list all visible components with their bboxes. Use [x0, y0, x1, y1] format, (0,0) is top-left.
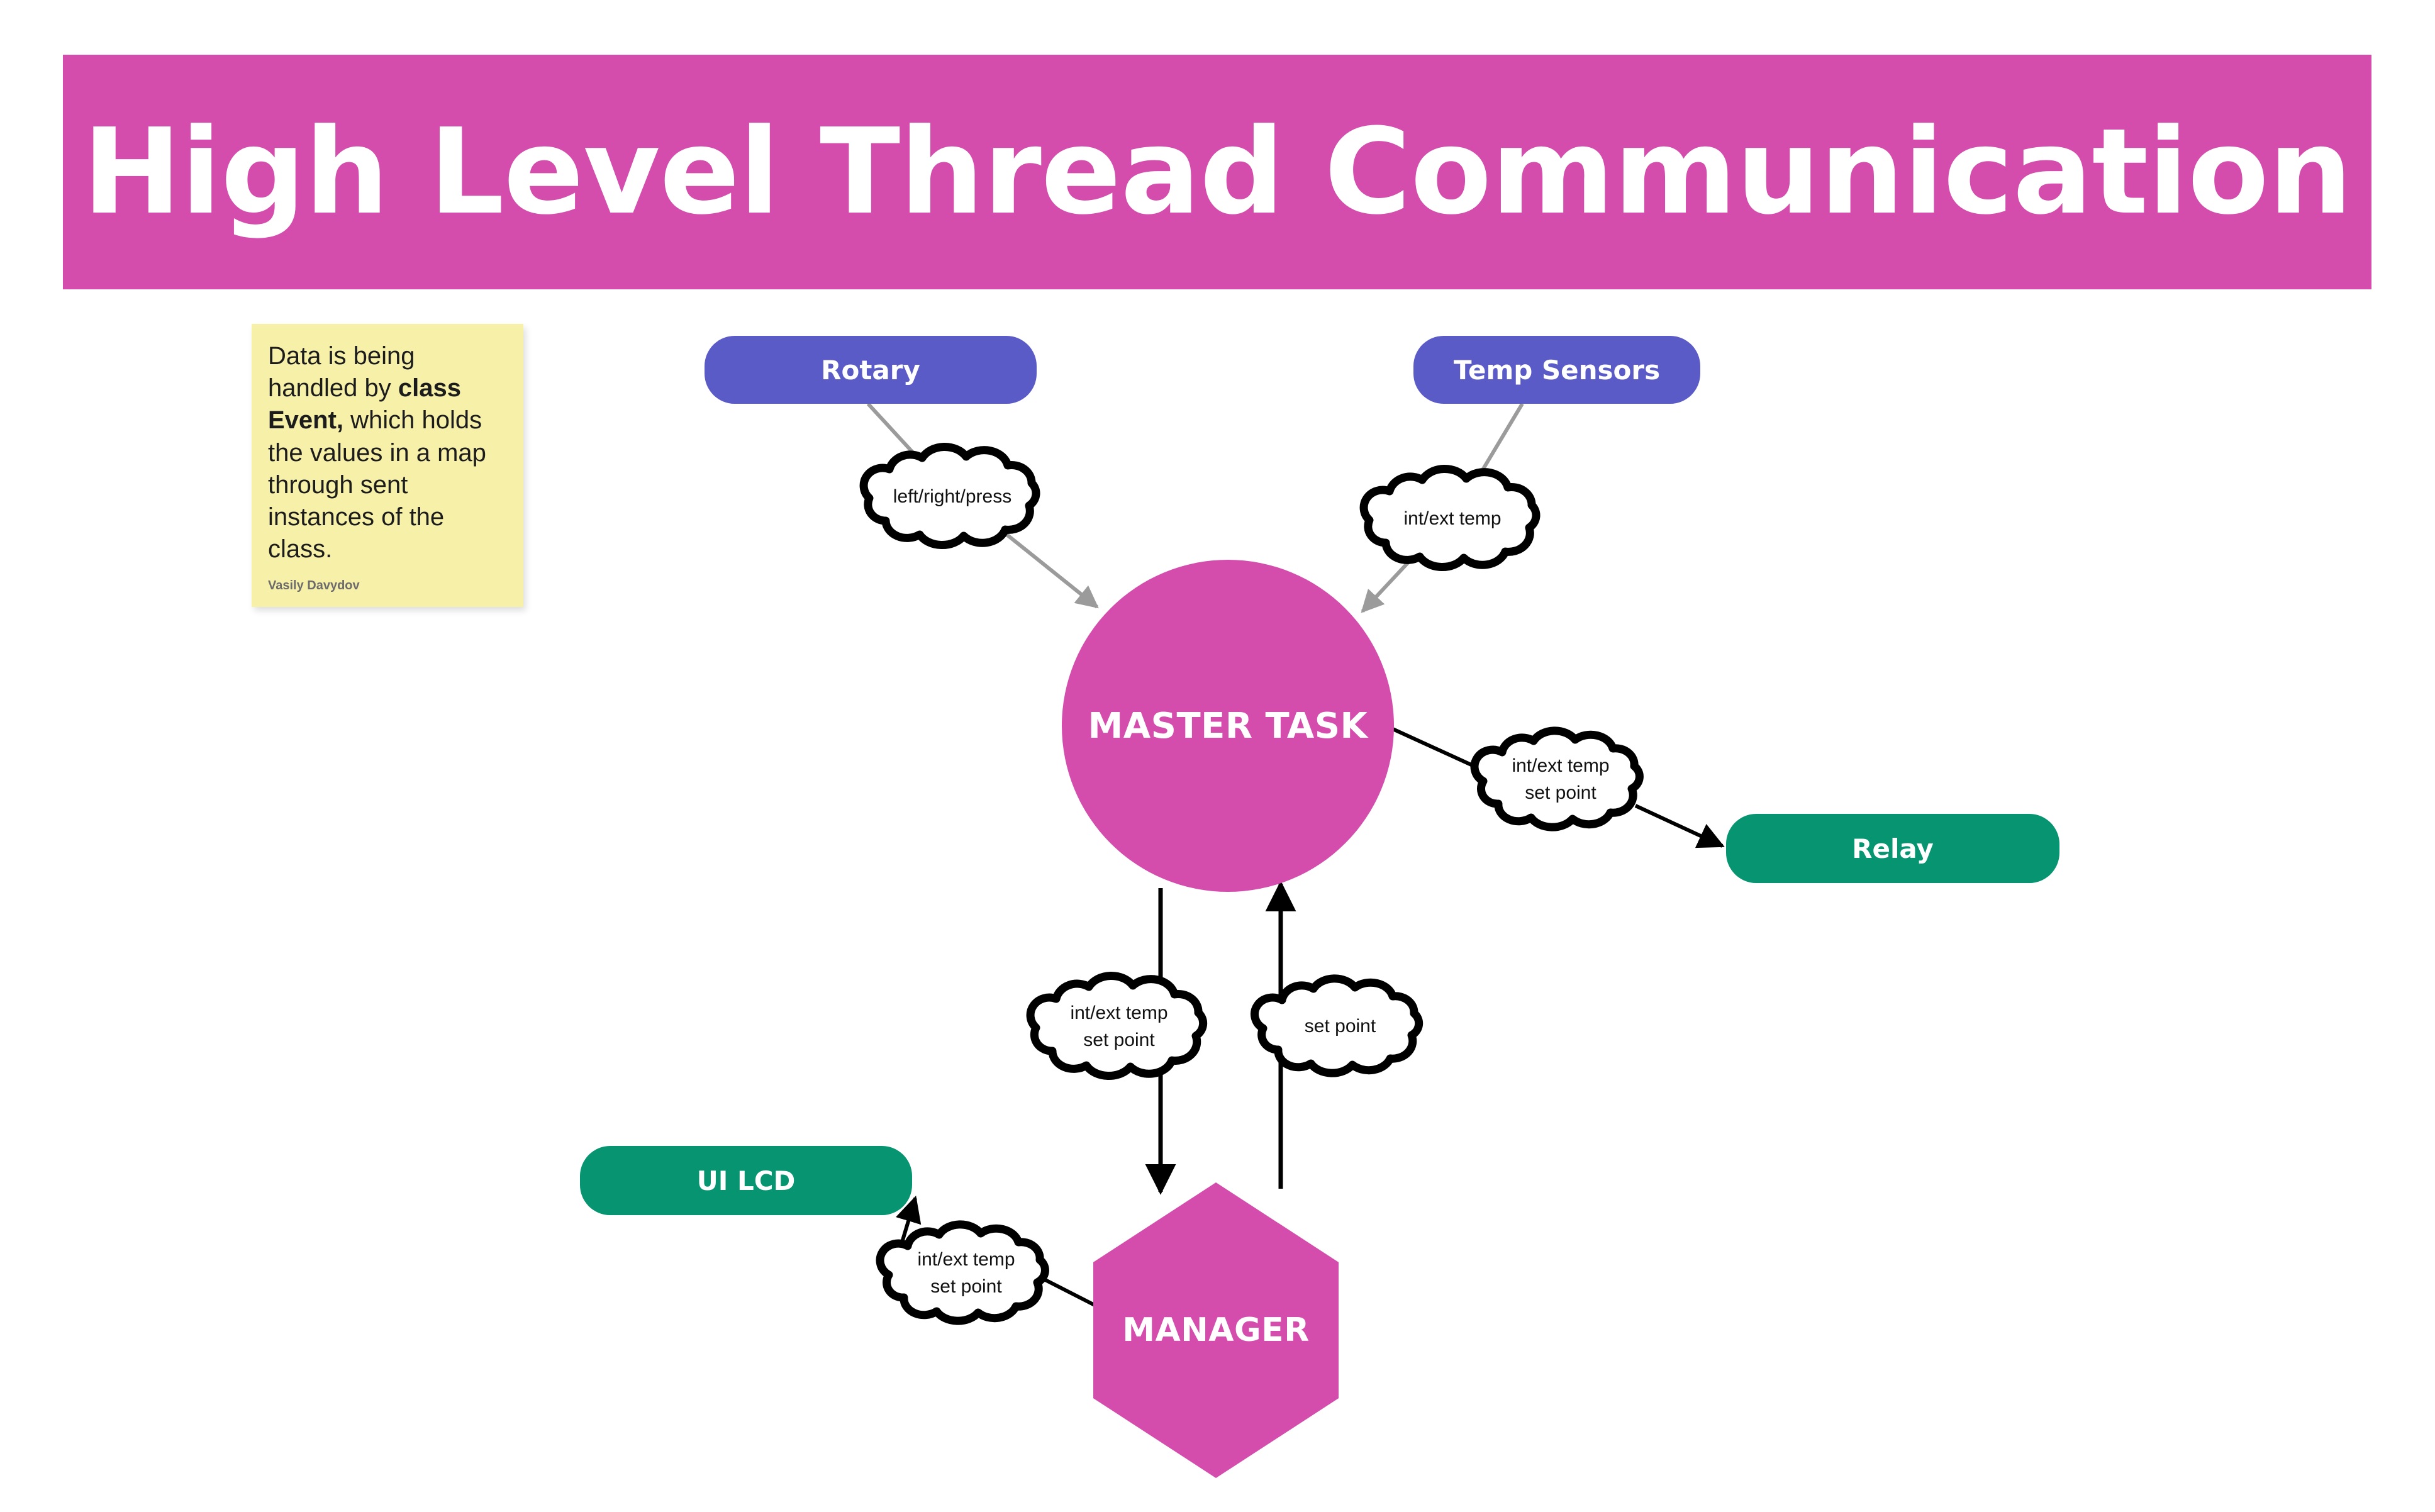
- node-rotary[interactable]: Rotary: [705, 336, 1037, 404]
- node-manager-label: MANAGER: [1122, 1311, 1310, 1349]
- cloud-shape-icon: [1364, 469, 1536, 567]
- cloud-temp-event: int/ext temp: [1343, 462, 1562, 575]
- cloud-relay-event: int/ext temp set point: [1459, 723, 1662, 837]
- node-master-task[interactable]: MASTER TASK: [1062, 560, 1394, 892]
- cloud-master-to-manager: int/ext temp set point: [1010, 969, 1229, 1085]
- cloud-shape-icon: [864, 447, 1036, 545]
- cloud-manager-to-lcd: int/ext temp set point: [865, 1217, 1067, 1330]
- node-ui-lcd-label: UI LCD: [697, 1165, 796, 1196]
- node-master-task-label: MASTER TASK: [1088, 706, 1368, 747]
- node-temp-sensors-label: Temp Sensors: [1454, 355, 1660, 386]
- node-ui-lcd[interactable]: UI LCD: [580, 1146, 912, 1215]
- node-relay-label: Relay: [1852, 833, 1934, 864]
- cloud-shape-icon: [1030, 976, 1203, 1076]
- node-rotary-label: Rotary: [821, 355, 920, 386]
- node-relay[interactable]: Relay: [1726, 814, 2059, 883]
- cloud-shape-icon: [1255, 979, 1419, 1073]
- cloud-shape-icon: [1474, 731, 1639, 827]
- cloud-shape-icon: [880, 1225, 1045, 1321]
- cloud-manager-to-master: set point: [1238, 972, 1442, 1082]
- node-temp-sensors[interactable]: Temp Sensors: [1413, 336, 1700, 404]
- cloud-rotary-event: left/right/press: [843, 440, 1062, 553]
